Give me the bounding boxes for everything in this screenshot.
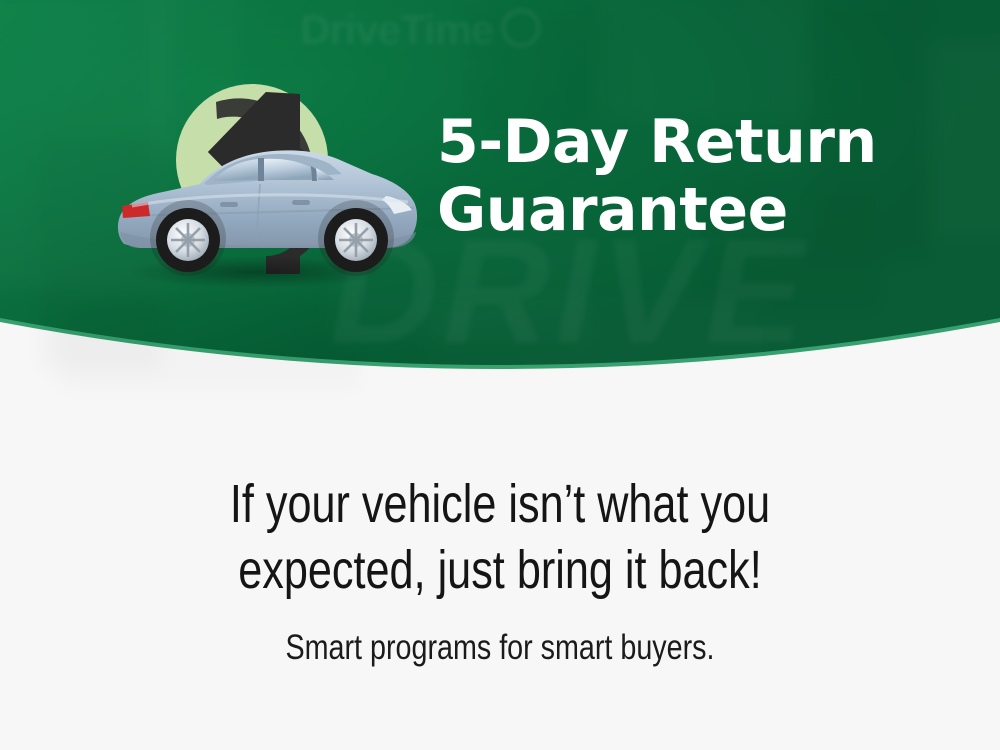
- return-guarantee-artwork: [96, 56, 426, 316]
- hero-heading-line-2: Guarantee: [437, 176, 957, 244]
- tagline: If your vehicle isn’t what you expected,…: [100, 472, 900, 604]
- subtagline: Smart programs for smart buyers.: [90, 628, 910, 668]
- car-front-door-handle: [292, 200, 310, 205]
- hero-heading: 5-Day Return Guarantee: [437, 108, 957, 245]
- return-guarantee-banner: DriveTime DRIVE: [0, 0, 1000, 750]
- tagline-line-1: If your vehicle isn’t what you: [100, 472, 900, 538]
- car-rear-door-handle: [220, 202, 238, 207]
- message-section: If your vehicle isn’t what you expected,…: [0, 412, 1000, 750]
- hero-heading-line-1: 5-Day Return: [437, 108, 957, 176]
- hero-panel: DriveTime DRIVE: [0, 0, 1000, 412]
- car-rear-wheel: [156, 208, 220, 272]
- car-front-wheel: [324, 208, 388, 272]
- tagline-line-2: expected, just bring it back!: [100, 538, 900, 604]
